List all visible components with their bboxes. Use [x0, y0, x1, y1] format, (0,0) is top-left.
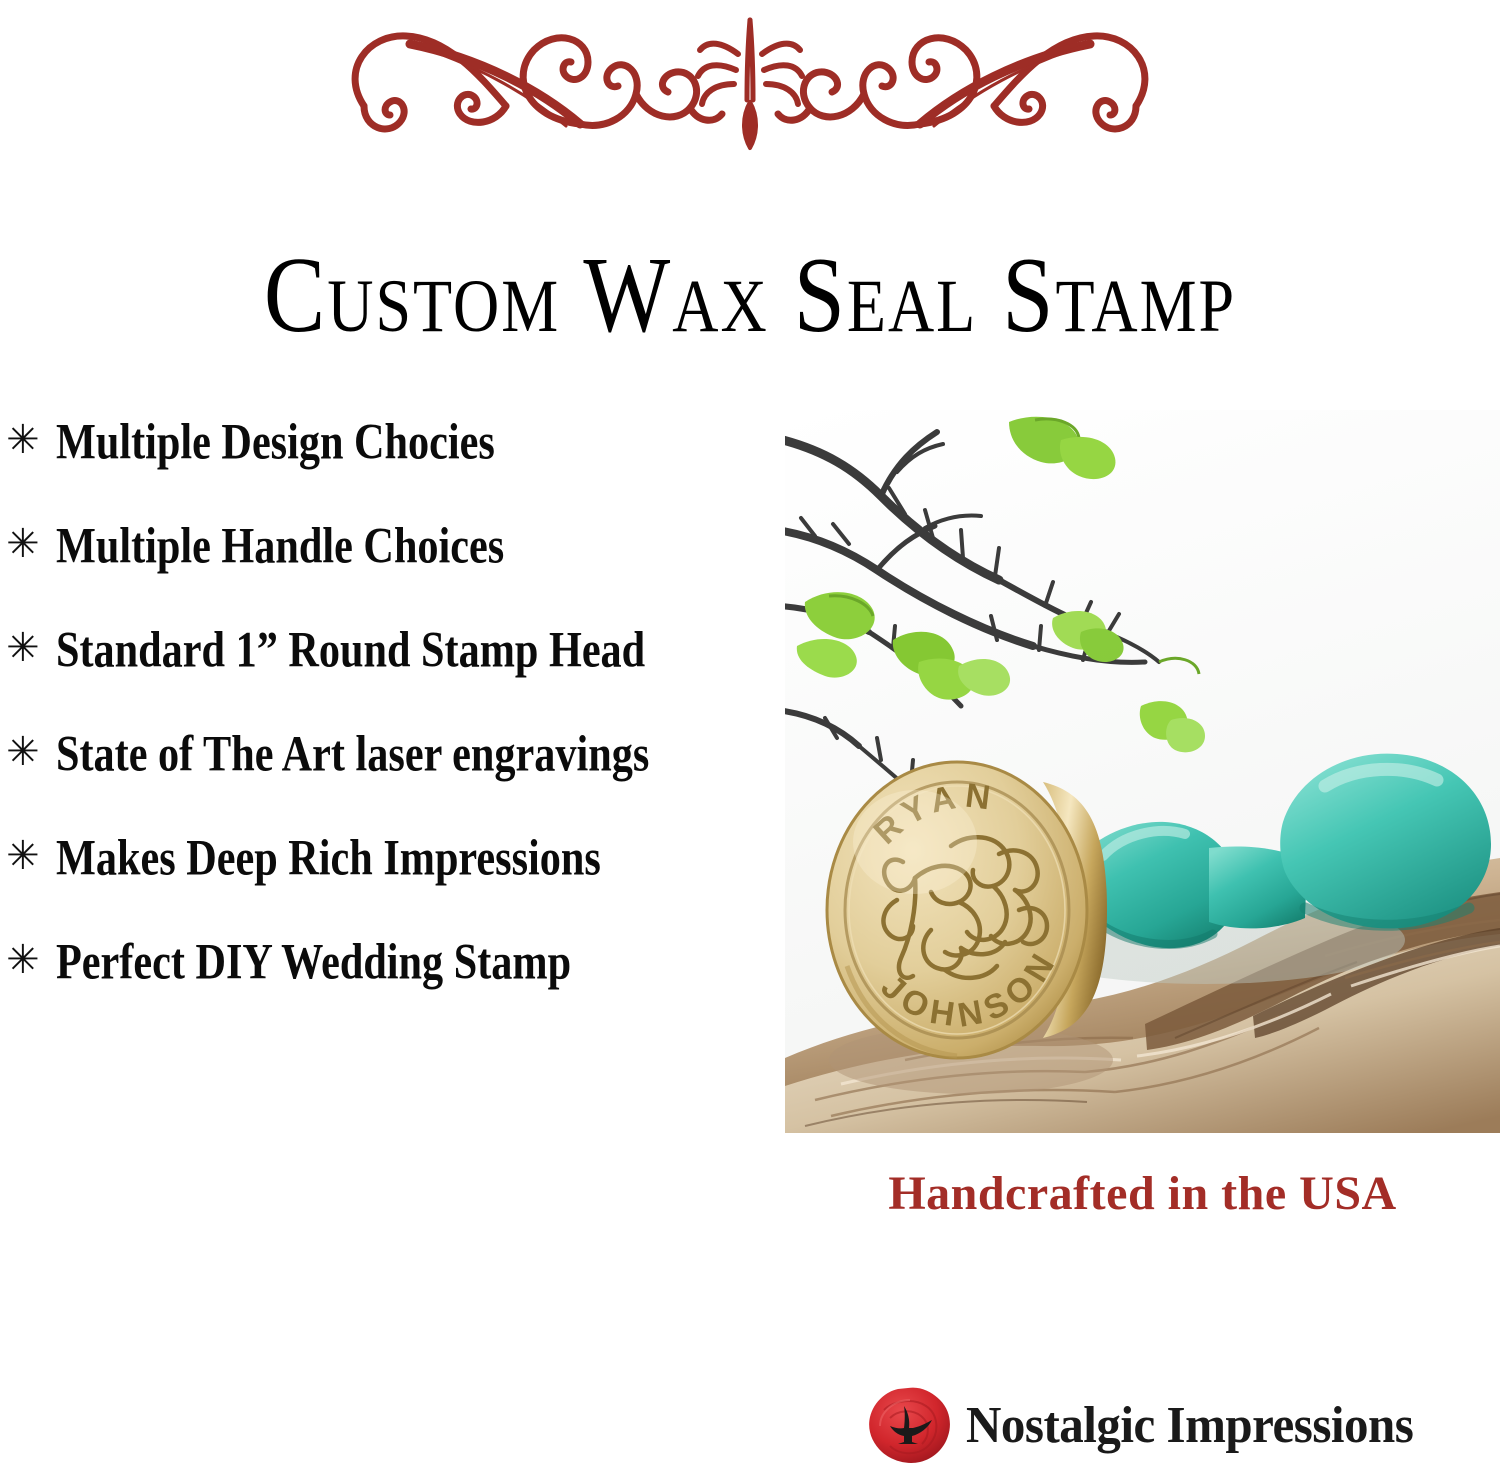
feature-label: Multiple Handle Choices — [56, 516, 766, 576]
list-item: ✳ Multiple Handle Choices — [6, 516, 796, 620]
list-item: ✳ Makes Deep Rich Impressions — [6, 828, 796, 932]
brand-name: Nostalgic Impressions — [966, 1396, 1486, 1455]
page-title: Custom Wax Seal Stamp — [0, 238, 1500, 352]
floral-asterisk-icon: ✳ — [6, 516, 56, 566]
feature-label: Standard 1” Round Stamp Head — [56, 620, 766, 680]
product-photo-illustration: RYAN JOHNSON — [785, 410, 1500, 1133]
feature-label: Multiple Design Chocies — [56, 412, 766, 472]
list-item: ✳ Perfect DIY Wedding Stamp — [6, 932, 796, 1036]
handcrafted-caption: Handcrafted in the USA — [785, 1166, 1500, 1222]
brass-stamp-head: RYAN JOHNSON — [827, 762, 1113, 1094]
list-item: ✳ State of The Art laser engravings — [6, 724, 796, 828]
floral-asterisk-icon: ✳ — [6, 412, 56, 462]
ornamental-flourish-divider — [330, 14, 1170, 154]
floral-asterisk-icon: ✳ — [6, 620, 56, 670]
list-item: ✳ Standard 1” Round Stamp Head — [6, 620, 796, 724]
feature-label: State of The Art laser engravings — [56, 724, 766, 784]
floral-asterisk-icon: ✳ — [6, 724, 56, 774]
list-item: ✳ Multiple Design Chocies — [6, 412, 796, 516]
floral-asterisk-icon: ✳ — [6, 932, 56, 982]
brand-logo: Nostalgic Impressions — [866, 1386, 1486, 1464]
feature-list: ✳ Multiple Design Chocies ✳ Multiple Han… — [6, 412, 796, 1036]
feature-label: Makes Deep Rich Impressions — [56, 828, 766, 888]
floral-asterisk-icon: ✳ — [6, 828, 56, 878]
wax-seal-stamp-product-photo: RYAN JOHNSON — [785, 410, 1500, 1133]
feature-label: Perfect DIY Wedding Stamp — [56, 932, 766, 992]
red-wax-seal-with-stamp-silhouette-icon — [866, 1386, 952, 1464]
header-flourish — [330, 14, 1170, 154]
